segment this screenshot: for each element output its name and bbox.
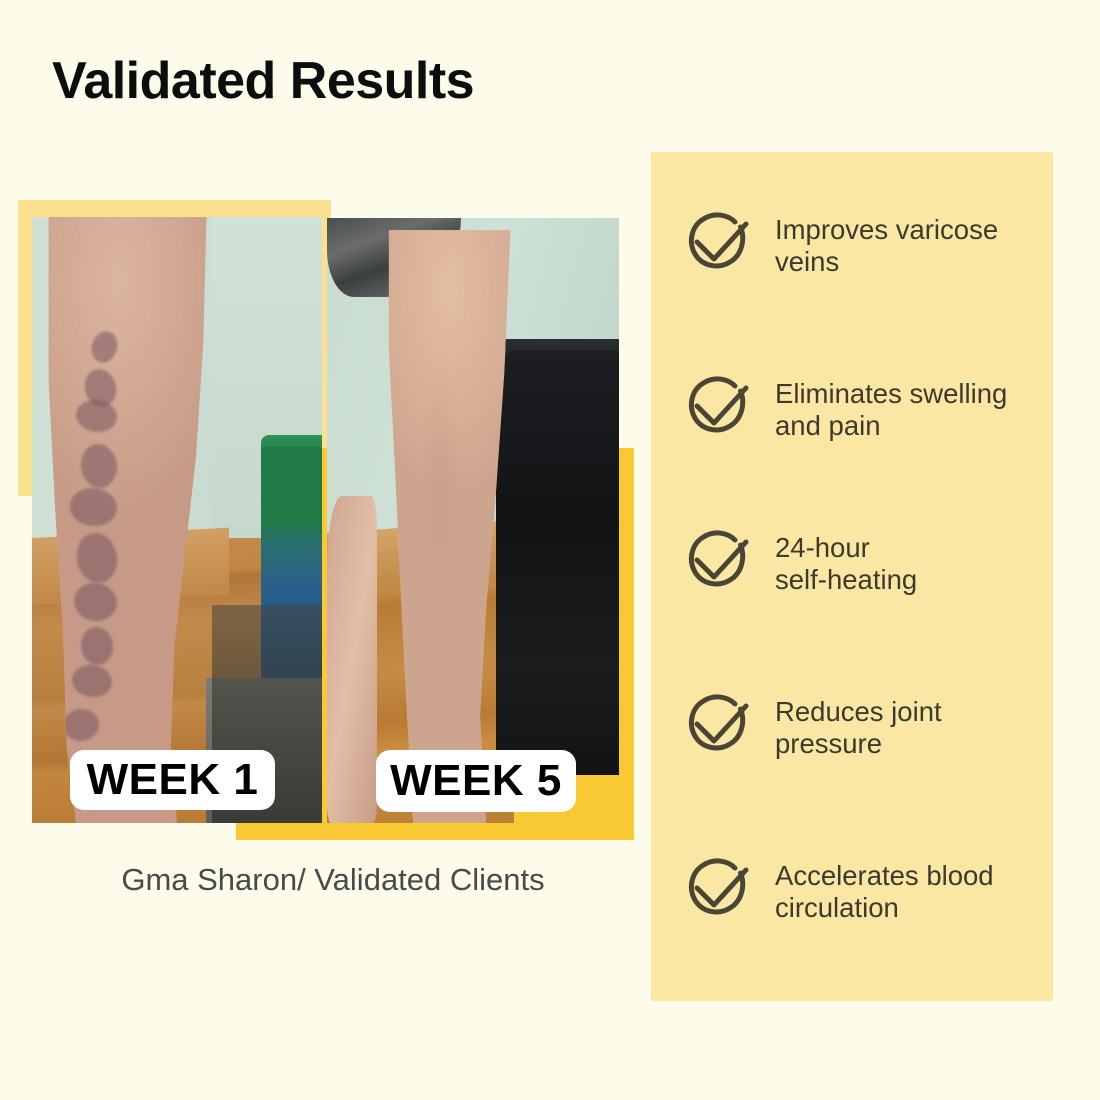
second-leg — [327, 496, 377, 823]
benefit-item-improves-varicose-veins: Improves varicose veins — [673, 200, 1041, 288]
before-week-badge: WEEK 1 — [70, 750, 275, 810]
check-circle-icon — [673, 682, 761, 770]
page-title: Validated Results — [52, 55, 474, 107]
vein — [68, 486, 118, 528]
benefit-item-24-hour-self-heating: 24-hour self-heating — [673, 518, 1041, 606]
vein — [70, 662, 114, 699]
check-circle-icon — [673, 200, 761, 288]
promo-graphic-root: Validated Results — [0, 0, 1100, 1100]
check-circle-icon — [673, 518, 761, 606]
check-circle-icon — [673, 364, 761, 452]
benefit-label: Reduces joint pressure — [775, 682, 942, 760]
dark-fabric — [496, 351, 619, 775]
benefit-item-reduces-joint-pressure: Reduces joint pressure — [673, 682, 1041, 770]
benefit-label: Eliminates swelling and pain — [775, 364, 1007, 442]
benefit-label: 24-hour self-heating — [775, 518, 917, 596]
after-photo — [327, 218, 619, 823]
vein — [79, 626, 115, 667]
before-photo-scene — [32, 217, 322, 823]
calf-highlight — [419, 361, 462, 610]
benefit-label: Improves varicose veins — [775, 200, 998, 278]
check-circle-icon — [673, 846, 761, 934]
vein — [74, 398, 119, 435]
before-photo — [32, 217, 322, 823]
benefit-item-accelerates-blood-circulation: Accelerates blood circulation — [673, 846, 1041, 934]
photo-caption: Gma Sharon/ Validated Clients — [30, 862, 636, 898]
vein — [62, 708, 101, 743]
vein — [78, 442, 120, 491]
after-photo-scene — [327, 218, 619, 823]
benefits-panel: Improves varicose veins Eliminates swell… — [651, 152, 1053, 1001]
vein — [88, 328, 121, 365]
benefit-item-eliminates-swelling-and-pain: Eliminates swelling and pain — [673, 364, 1041, 452]
after-week-badge: WEEK 5 — [376, 750, 576, 812]
vein — [73, 530, 121, 587]
benefit-label: Accelerates blood circulation — [775, 846, 994, 924]
vein — [70, 579, 120, 625]
